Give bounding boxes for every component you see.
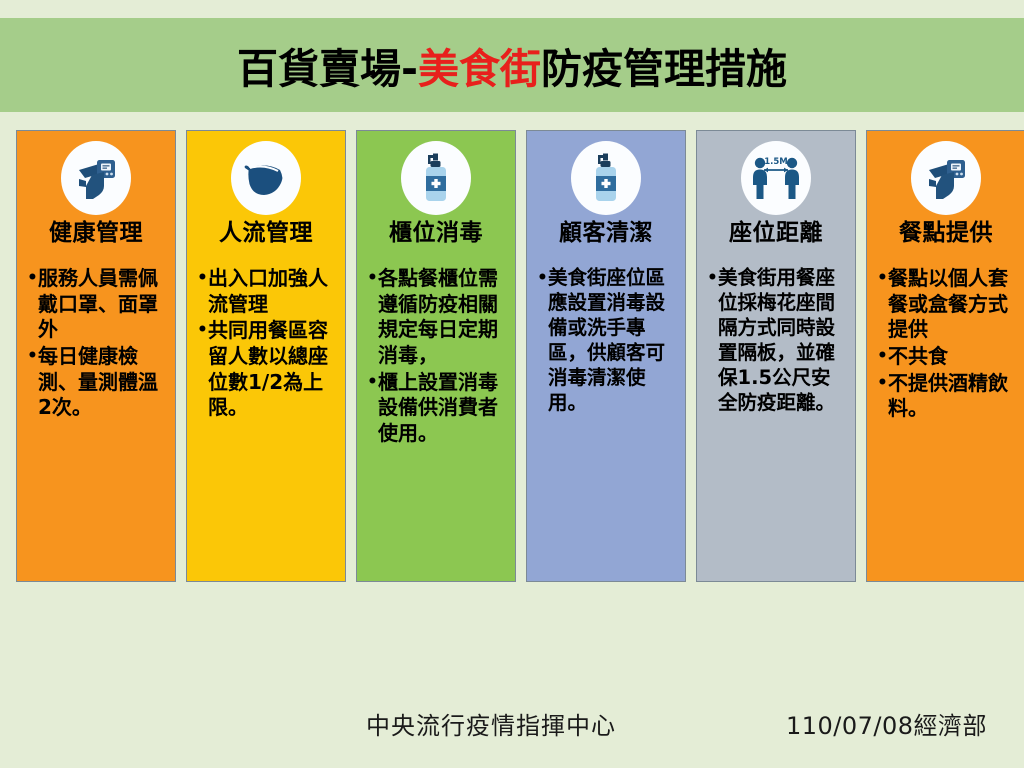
bullet-dot-icon: • [27, 344, 38, 369]
bullet-dot-icon: • [367, 266, 378, 291]
measure-bullet-list: •美食街座位區應設置消毒設備或洗手專區，供顧客可消毒清潔使用。 [533, 266, 679, 417]
bullet-dot-icon: • [197, 266, 208, 291]
measure-bullet-text: 美食街用餐座位採梅花座間隔方式同時設置隔板，並確保1.5公尺安全防疫距離。 [718, 266, 847, 416]
measure-card-title: 櫃位消毒 [389, 221, 483, 246]
footer-date-agency: 110/07/08經濟部 [786, 706, 987, 741]
measure-bullet-item: •不提供酒精飲料。 [877, 371, 1017, 422]
svg-text:1.5M: 1.5M [764, 157, 788, 167]
measure-card-title: 顧客清潔 [559, 221, 653, 246]
measure-bullet-item: •服務人員需佩戴口罩、面罩外 [27, 266, 167, 343]
page-title-suffix: 防疫管理措施 [541, 35, 787, 95]
measure-bullet-text: 出入口加強人流管理 [208, 266, 337, 317]
measure-card-crowd-management[interactable]: 人流管理•出入口加強人流管理•共同用餐區容留人數以總座位數1/2為上限。 [186, 130, 346, 582]
measure-bullet-item: •共同用餐區容留人數以總座位數1/2為上限。 [197, 318, 337, 420]
measure-card-title: 人流管理 [219, 221, 313, 246]
thermometer-gun-icon [61, 141, 131, 215]
measure-bullet-list: •餐點以個人套餐或盒餐方式提供•不共食•不提供酒精飲料。 [873, 266, 1019, 423]
bullet-dot-icon: • [27, 266, 38, 291]
bullet-dot-icon: • [367, 370, 378, 395]
bullet-dot-icon: • [877, 344, 888, 369]
measure-bullet-text: 美食街座位區應設置消毒設備或洗手專區，供顧客可消毒清潔使用。 [548, 266, 677, 416]
footer-organization: 中央流行疫情指揮中心 [366, 706, 616, 741]
measure-bullet-item: •櫃上設置消毒設備供消費者使用。 [367, 370, 507, 447]
bullet-dot-icon: • [707, 266, 718, 291]
face-mask-icon [231, 141, 301, 215]
measure-card-customer-cleaning[interactable]: 顧客清潔•美食街座位區應設置消毒設備或洗手專區，供顧客可消毒清潔使用。 [526, 130, 686, 582]
measure-card-title: 座位距離 [729, 221, 823, 246]
measure-bullet-list: •各點餐櫃位需遵循防疫相關規定每日定期消毒，•櫃上設置消毒設備供消費者使用。 [363, 266, 509, 447]
measure-bullet-list: •服務人員需佩戴口罩、面罩外•每日健康檢測、量測體溫2次。 [23, 266, 169, 422]
measure-bullet-text: 服務人員需佩戴口罩、面罩外 [38, 266, 167, 343]
measure-card-counter-disinfection[interactable]: 櫃位消毒•各點餐櫃位需遵循防疫相關規定每日定期消毒，•櫃上設置消毒設備供消費者使… [356, 130, 516, 582]
measure-card-seat-distance[interactable]: 1.5M座位距離•美食街用餐座位採梅花座間隔方式同時設置隔板，並確保1.5公尺安… [696, 130, 856, 582]
measure-bullet-item: •每日健康檢測、量測體溫2次。 [27, 344, 167, 421]
measure-bullet-text: 不提供酒精飲料。 [888, 371, 1017, 422]
page-title-highlight: 美食街 [418, 35, 541, 95]
bullet-dot-icon: • [877, 266, 888, 291]
social-distance-icon: 1.5M [741, 141, 811, 215]
sanitizer-bottle-icon [571, 141, 641, 215]
page-title: 百貨賣場-美食街防疫管理措施 [0, 18, 1024, 112]
measure-bullet-text: 各點餐櫃位需遵循防疫相關規定每日定期消毒， [378, 266, 507, 368]
bullet-dot-icon: • [537, 266, 548, 291]
measure-bullet-item: •出入口加強人流管理 [197, 266, 337, 317]
measure-bullet-text: 櫃上設置消毒設備供消費者使用。 [378, 370, 507, 447]
measure-bullet-item: •各點餐櫃位需遵循防疫相關規定每日定期消毒， [367, 266, 507, 368]
measure-bullet-item: •美食街用餐座位採梅花座間隔方式同時設置隔板，並確保1.5公尺安全防疫距離。 [707, 266, 847, 416]
measure-bullet-text: 不共食 [888, 344, 1017, 370]
measure-bullet-list: •美食街用餐座位採梅花座間隔方式同時設置隔板，並確保1.5公尺安全防疫距離。 [703, 266, 849, 417]
header-band: 百貨賣場-美食街防疫管理措施 [0, 18, 1024, 112]
measure-card-title: 餐點提供 [899, 221, 993, 246]
thermometer-gun-icon [911, 141, 981, 215]
bullet-dot-icon: • [877, 371, 888, 396]
sanitizer-bottle-icon [401, 141, 471, 215]
measure-card-meal-service[interactable]: 餐點提供•餐點以個人套餐或盒餐方式提供•不共食•不提供酒精飲料。 [866, 130, 1024, 582]
measure-card-health-management[interactable]: 健康管理•服務人員需佩戴口罩、面罩外•每日健康檢測、量測體溫2次。 [16, 130, 176, 582]
measures-column-strip: 健康管理•服務人員需佩戴口罩、面罩外•每日健康檢測、量測體溫2次。人流管理•出入… [16, 130, 1008, 582]
page-title-prefix: 百貨賣場- [237, 35, 418, 95]
measure-bullet-text: 每日健康檢測、量測體溫2次。 [38, 344, 167, 421]
measure-bullet-item: •餐點以個人套餐或盒餐方式提供 [877, 266, 1017, 343]
measure-bullet-item: •不共食 [877, 344, 1017, 370]
measure-card-title: 健康管理 [49, 221, 143, 246]
bullet-dot-icon: • [197, 318, 208, 343]
measure-bullet-text: 共同用餐區容留人數以總座位數1/2為上限。 [208, 318, 337, 420]
measure-bullet-text: 餐點以個人套餐或盒餐方式提供 [888, 266, 1017, 343]
footer: 中央流行疫情指揮中心 110/07/08經濟部 [0, 706, 1024, 746]
measure-bullet-list: •出入口加強人流管理•共同用餐區容留人數以總座位數1/2為上限。 [193, 266, 339, 422]
measure-bullet-item: •美食街座位區應設置消毒設備或洗手專區，供顧客可消毒清潔使用。 [537, 266, 677, 416]
